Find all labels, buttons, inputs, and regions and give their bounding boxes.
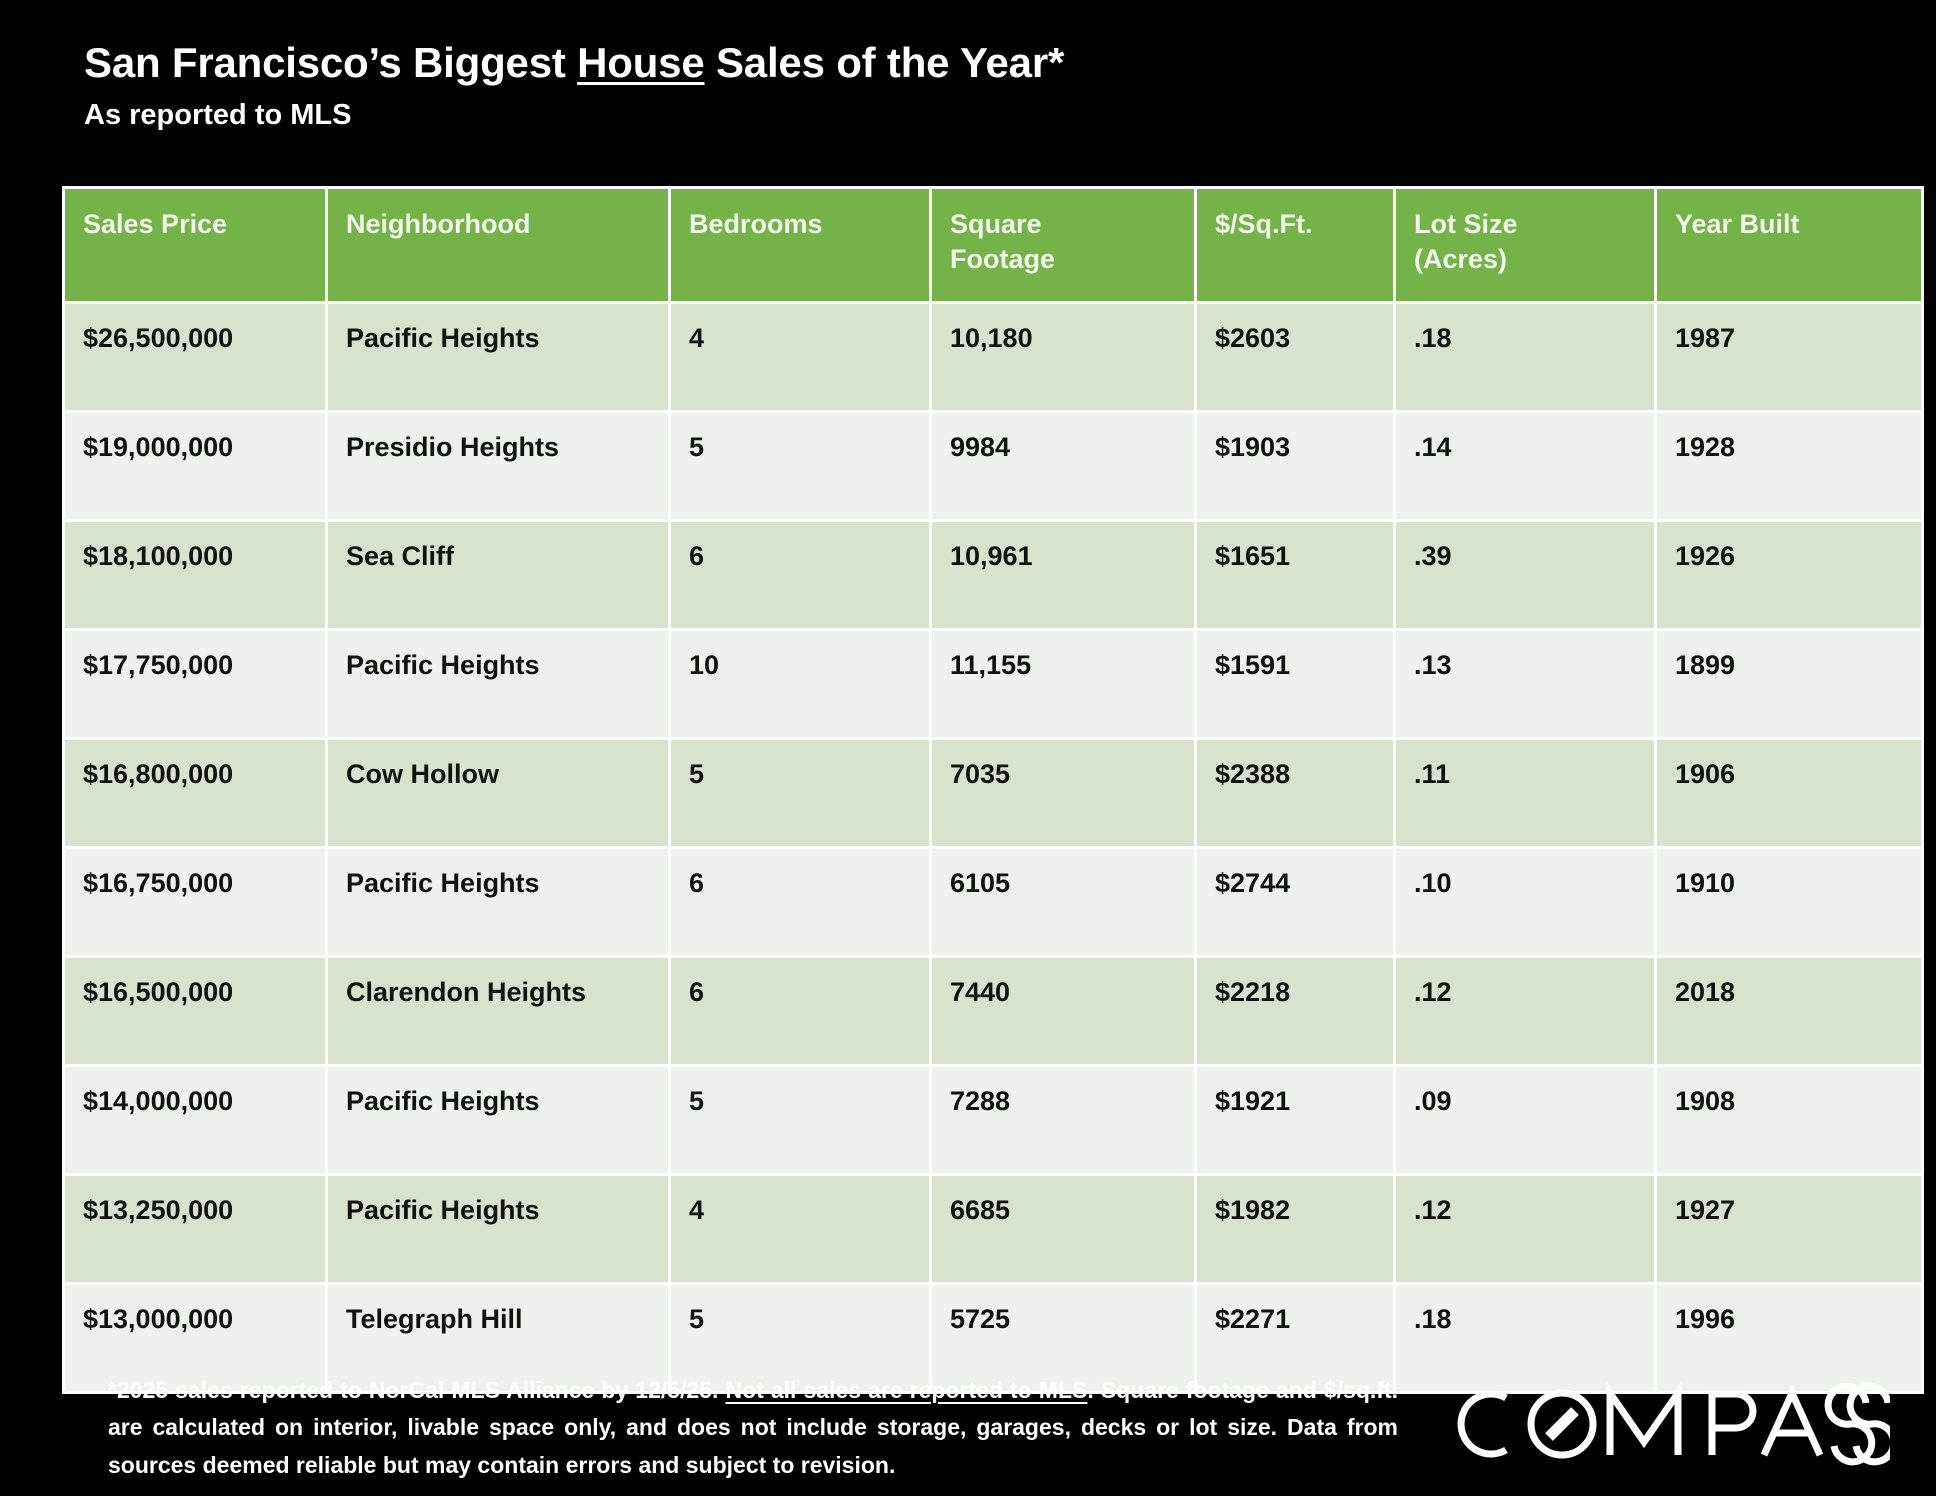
page-title: San Francisco’s Biggest House Sales of t… bbox=[84, 38, 1936, 88]
cell-square-footage: 9984 bbox=[932, 413, 1194, 519]
cell-lot-size: .12 bbox=[1396, 1176, 1654, 1282]
cell-neighborhood: Cow Hollow bbox=[328, 740, 668, 846]
table-row: $16,500,000 Clarendon Heights 6 7440 $22… bbox=[65, 958, 1921, 1064]
cell-year-built: 1926 bbox=[1657, 522, 1921, 628]
cell-bedrooms: 5 bbox=[671, 740, 929, 846]
cell-year-built: 1906 bbox=[1657, 740, 1921, 846]
cell-sales-price: $13,250,000 bbox=[65, 1176, 325, 1282]
cell-price-per-sqft: $1651 bbox=[1197, 522, 1393, 628]
column-header-line1: Bedrooms bbox=[689, 209, 823, 239]
cell-year-built: 1927 bbox=[1657, 1176, 1921, 1282]
cell-square-footage: 6685 bbox=[932, 1176, 1194, 1282]
table-row: $13,250,000 Pacific Heights 4 6685 $1982… bbox=[65, 1176, 1921, 1282]
column-header-line2: Footage bbox=[950, 242, 1180, 277]
cell-square-footage: 7035 bbox=[932, 740, 1194, 846]
cell-year-built: 1899 bbox=[1657, 631, 1921, 737]
table-header: Sales Price Neighborhood Bedrooms Square… bbox=[65, 189, 1921, 301]
footnote-emphasis: Not all sales are reported to MLS bbox=[725, 1377, 1087, 1403]
column-header-square-footage: Square Footage bbox=[932, 189, 1194, 301]
cell-sales-price: $18,100,000 bbox=[65, 522, 325, 628]
column-header-price-per-sqft: $/Sq.Ft. bbox=[1197, 189, 1393, 301]
page-title-part2: Sales of the Year* bbox=[705, 39, 1065, 86]
cell-price-per-sqft: $2388 bbox=[1197, 740, 1393, 846]
title-block: San Francisco’s Biggest House Sales of t… bbox=[0, 0, 1936, 132]
table-row: $16,750,000 Pacific Heights 6 6105 $2744… bbox=[65, 849, 1921, 955]
table-row: $16,800,000 Cow Hollow 5 7035 $2388 .11 … bbox=[65, 740, 1921, 846]
column-header-line2: (Acres) bbox=[1414, 242, 1640, 277]
column-header-line1: Square bbox=[950, 209, 1042, 239]
cell-square-footage: 7440 bbox=[932, 958, 1194, 1064]
column-header-neighborhood: Neighborhood bbox=[328, 189, 668, 301]
cell-bedrooms: 4 bbox=[671, 304, 929, 410]
column-header-sales-price: Sales Price bbox=[65, 189, 325, 301]
footnote-part1: *2025 sales reported to NorCal MLS Allia… bbox=[108, 1377, 725, 1403]
cell-lot-size: .14 bbox=[1396, 413, 1654, 519]
page-title-part1: San Francisco’s Biggest bbox=[84, 39, 577, 86]
cell-sales-price: $16,750,000 bbox=[65, 849, 325, 955]
cell-neighborhood: Pacific Heights bbox=[328, 631, 668, 737]
cell-year-built: 1910 bbox=[1657, 849, 1921, 955]
cell-neighborhood: Sea Cliff bbox=[328, 522, 668, 628]
cell-price-per-sqft: $2218 bbox=[1197, 958, 1393, 1064]
cell-year-built: 2018 bbox=[1657, 958, 1921, 1064]
cell-price-per-sqft: $1903 bbox=[1197, 413, 1393, 519]
cell-year-built: 1928 bbox=[1657, 413, 1921, 519]
column-header-line1: Lot Size bbox=[1414, 209, 1518, 239]
table-header-row: Sales Price Neighborhood Bedrooms Square… bbox=[65, 189, 1921, 301]
slide-root: San Francisco’s Biggest House Sales of t… bbox=[0, 0, 1936, 1496]
cell-price-per-sqft: $1591 bbox=[1197, 631, 1393, 737]
cell-bedrooms: 6 bbox=[671, 958, 929, 1064]
cell-bedrooms: 6 bbox=[671, 849, 929, 955]
cell-year-built: 1908 bbox=[1657, 1067, 1921, 1173]
cell-square-footage: 6105 bbox=[932, 849, 1194, 955]
cell-sales-price: $14,000,000 bbox=[65, 1067, 325, 1173]
cell-neighborhood: Pacific Heights bbox=[328, 1176, 668, 1282]
column-header-line1: $/Sq.Ft. bbox=[1215, 209, 1313, 239]
footnote: *2025 sales reported to NorCal MLS Allia… bbox=[108, 1372, 1398, 1484]
cell-square-footage: 7288 bbox=[932, 1067, 1194, 1173]
cell-bedrooms: 5 bbox=[671, 1067, 929, 1173]
column-header-year-built: Year Built bbox=[1657, 189, 1921, 301]
cell-lot-size: .09 bbox=[1396, 1067, 1654, 1173]
table-row: $14,000,000 Pacific Heights 5 7288 $1921… bbox=[65, 1067, 1921, 1173]
cell-neighborhood: Pacific Heights bbox=[328, 849, 668, 955]
table-row: $19,000,000 Presidio Heights 5 9984 $190… bbox=[65, 413, 1921, 519]
column-header-line1: Year Built bbox=[1675, 209, 1800, 239]
cell-square-footage: 10,961 bbox=[932, 522, 1194, 628]
cell-neighborhood: Pacific Heights bbox=[328, 304, 668, 410]
cell-lot-size: .12 bbox=[1396, 958, 1654, 1064]
cell-square-footage: 11,155 bbox=[932, 631, 1194, 737]
cell-lot-size: .10 bbox=[1396, 849, 1654, 955]
sales-table-container: Sales Price Neighborhood Bedrooms Square… bbox=[62, 186, 1900, 1394]
cell-neighborhood: Pacific Heights bbox=[328, 1067, 668, 1173]
cell-price-per-sqft: $2744 bbox=[1197, 849, 1393, 955]
column-header-line1: Sales Price bbox=[83, 209, 227, 239]
cell-sales-price: $19,000,000 bbox=[65, 413, 325, 519]
cell-square-footage: 10,180 bbox=[932, 304, 1194, 410]
cell-bedrooms: 4 bbox=[671, 1176, 929, 1282]
table-row: $26,500,000 Pacific Heights 4 10,180 $26… bbox=[65, 304, 1921, 410]
cell-bedrooms: 10 bbox=[671, 631, 929, 737]
page-title-house-emphasis: House bbox=[577, 39, 704, 86]
cell-lot-size: .18 bbox=[1396, 304, 1654, 410]
cell-year-built: 1987 bbox=[1657, 304, 1921, 410]
cell-lot-size: .11 bbox=[1396, 740, 1654, 846]
sales-table: Sales Price Neighborhood Bedrooms Square… bbox=[62, 186, 1924, 1394]
page-subtitle: As reported to MLS bbox=[84, 98, 1936, 133]
cell-price-per-sqft: $1921 bbox=[1197, 1067, 1393, 1173]
table-row: $17,750,000 Pacific Heights 10 11,155 $1… bbox=[65, 631, 1921, 737]
table-body: $26,500,000 Pacific Heights 4 10,180 $26… bbox=[65, 304, 1921, 1391]
cell-neighborhood: Clarendon Heights bbox=[328, 958, 668, 1064]
cell-neighborhood: Presidio Heights bbox=[328, 413, 668, 519]
compass-logo bbox=[1438, 1372, 1890, 1476]
cell-sales-price: $17,750,000 bbox=[65, 631, 325, 737]
cell-bedrooms: 6 bbox=[671, 522, 929, 628]
cell-sales-price: $16,800,000 bbox=[65, 740, 325, 846]
cell-price-per-sqft: $1982 bbox=[1197, 1176, 1393, 1282]
column-header-lot-size: Lot Size (Acres) bbox=[1396, 189, 1654, 301]
cell-price-per-sqft: $2603 bbox=[1197, 304, 1393, 410]
cell-lot-size: .39 bbox=[1396, 522, 1654, 628]
cell-bedrooms: 5 bbox=[671, 413, 929, 519]
cell-sales-price: $26,500,000 bbox=[65, 304, 325, 410]
cell-sales-price: $16,500,000 bbox=[65, 958, 325, 1064]
column-header-bedrooms: Bedrooms bbox=[671, 189, 929, 301]
cell-lot-size: .13 bbox=[1396, 631, 1654, 737]
column-header-line1: Neighborhood bbox=[346, 209, 530, 239]
table-row: $18,100,000 Sea Cliff 6 10,961 $1651 .39… bbox=[65, 522, 1921, 628]
